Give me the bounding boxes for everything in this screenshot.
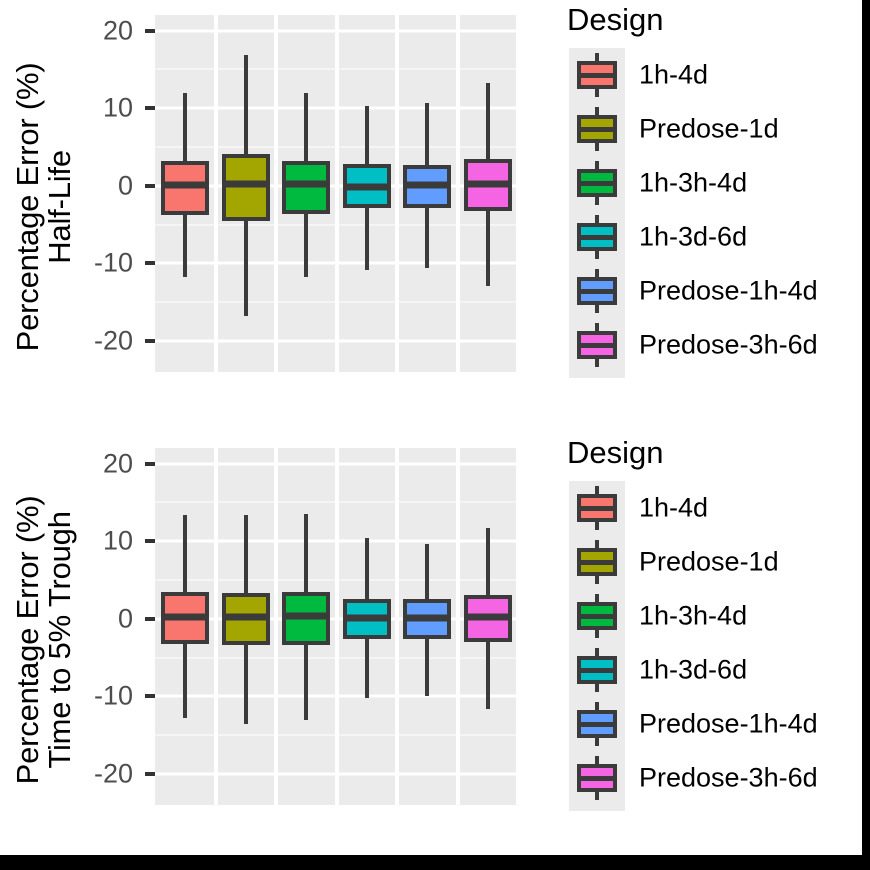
boxplot-Predose-1h-4d	[403, 15, 451, 372]
y-tick-mark	[145, 462, 155, 466]
gridline-major-vertical	[274, 448, 278, 805]
y-tick-mark	[145, 539, 155, 543]
legend-key-Predose-1h-4d[interactable]	[574, 701, 620, 747]
legend-label-Predose-3h-6d: Predose-3h-6d	[639, 763, 818, 794]
median-line	[464, 614, 512, 621]
boxplot-1h-3h-4d	[282, 15, 330, 372]
legend-key-1h-3h-4d[interactable]	[574, 593, 620, 639]
median-line	[161, 614, 209, 621]
gridline-major-vertical	[335, 448, 339, 805]
y-axis-ticklabels-top: 20100-10-20	[0, 0, 155, 400]
y-tick-mark	[145, 261, 155, 265]
y-axis-ticklabels-bottom: 20100-10-20	[0, 433, 155, 833]
median-line	[343, 184, 391, 191]
legend-label-1h-4d: 1h-4d	[639, 60, 708, 91]
legend-key-1h-4d[interactable]	[574, 485, 620, 531]
y-tick-label: -10	[94, 681, 133, 712]
legend-label-Predose-3h-6d: Predose-3h-6d	[639, 330, 818, 361]
boxplot-Predose-3h-6d	[464, 15, 512, 372]
legend-key-Predose-3h-6d[interactable]	[574, 322, 620, 368]
legend-label-1h-3h-4d: 1h-3h-4d	[639, 168, 747, 199]
y-tick-mark	[145, 106, 155, 110]
y-tick-label: 20	[103, 15, 133, 46]
y-tick-label: 0	[118, 603, 133, 634]
legend-key-median	[577, 614, 617, 619]
gridline-major-vertical	[516, 448, 518, 805]
legend-top: Design 1h-4dPredose-1d1h-3h-4d1h-3d-6dPr…	[562, 0, 862, 400]
legend-key-median	[577, 776, 617, 781]
median-line	[343, 614, 391, 621]
median-line	[403, 181, 451, 188]
gridline-major-vertical	[395, 15, 399, 372]
y-tick-mark	[145, 29, 155, 33]
plot-panel-top	[155, 15, 518, 372]
figure-border-bottom	[0, 855, 870, 870]
legend-key-median	[577, 73, 617, 78]
boxplot-1h-4d	[161, 15, 209, 372]
figure-border-right	[862, 0, 870, 870]
legend-key-Predose-3h-6d[interactable]	[574, 755, 620, 801]
median-line	[161, 181, 209, 188]
y-tick-label: -20	[94, 758, 133, 789]
legend-label-1h-3d-6d: 1h-3d-6d	[639, 222, 747, 253]
gridline-major-vertical	[456, 15, 460, 372]
gridline-major-vertical	[274, 15, 278, 372]
y-tick-mark	[145, 339, 155, 343]
y-tick-mark	[145, 772, 155, 776]
y-tick-mark	[145, 694, 155, 698]
y-tick-label: 0	[118, 170, 133, 201]
y-tick-label: 20	[103, 448, 133, 479]
boxplot-1h-3h-4d	[282, 448, 330, 805]
legend-keys-container	[569, 48, 625, 378]
legend-key-1h-3h-4d[interactable]	[574, 160, 620, 206]
legend-label-1h-4d: 1h-4d	[639, 493, 708, 524]
legend-key-median	[577, 722, 617, 727]
gridline-major-vertical	[335, 15, 339, 372]
figure-root: Percentage Error (%) Half-Life 20100-10-…	[0, 0, 870, 870]
legend-key-median	[577, 181, 617, 186]
median-line	[464, 181, 512, 188]
legend-key-median	[577, 235, 617, 240]
boxplot-Predose-1h-4d	[403, 448, 451, 805]
legend-key-median	[577, 127, 617, 132]
legend-label-Predose-1h-4d: Predose-1h-4d	[639, 276, 818, 307]
gridline-major-vertical	[214, 448, 218, 805]
gridline-major-vertical	[516, 15, 518, 372]
gridline-major-vertical	[395, 448, 399, 805]
legend-key-median	[577, 289, 617, 294]
legend-bottom: Design 1h-4dPredose-1d1h-3h-4d1h-3d-6dPr…	[562, 433, 862, 833]
legend-keys-container	[569, 481, 625, 811]
legend-label-Predose-1d: Predose-1d	[639, 114, 779, 145]
y-tick-label: 10	[103, 93, 133, 124]
boxplot-Predose-3h-6d	[464, 448, 512, 805]
y-tick-label: -20	[94, 325, 133, 356]
median-line	[282, 613, 330, 620]
gridline-major-vertical	[456, 448, 460, 805]
legend-key-median	[577, 560, 617, 565]
legend-key-median	[577, 668, 617, 673]
boxplot-Predose-1d	[222, 448, 270, 805]
plot-panel-bottom	[155, 448, 518, 805]
legend-title: Design	[567, 435, 664, 471]
boxplot-1h-4d	[161, 448, 209, 805]
median-line	[222, 181, 270, 188]
legend-label-Predose-1d: Predose-1d	[639, 547, 779, 578]
y-tick-label: 10	[103, 526, 133, 557]
legend-key-1h-3d-6d[interactable]	[574, 647, 620, 693]
legend-title: Design	[567, 2, 664, 38]
y-tick-mark	[145, 184, 155, 188]
median-line	[403, 614, 451, 621]
legend-key-Predose-1h-4d[interactable]	[574, 268, 620, 314]
boxplot-Predose-1d	[222, 15, 270, 372]
legend-key-median	[577, 343, 617, 348]
y-tick-mark	[145, 617, 155, 621]
y-tick-label: -10	[94, 248, 133, 279]
legend-key-median	[577, 506, 617, 511]
gridline-major-vertical	[214, 15, 218, 372]
legend-key-1h-3d-6d[interactable]	[574, 214, 620, 260]
legend-key-Predose-1d[interactable]	[574, 539, 620, 585]
legend-label-1h-3d-6d: 1h-3d-6d	[639, 655, 747, 686]
legend-label-Predose-1h-4d: Predose-1h-4d	[639, 709, 818, 740]
legend-key-Predose-1d[interactable]	[574, 106, 620, 152]
median-line	[282, 181, 330, 188]
boxplot-1h-3d-6d	[343, 448, 391, 805]
legend-key-1h-4d[interactable]	[574, 52, 620, 98]
median-line	[222, 614, 270, 621]
legend-label-1h-3h-4d: 1h-3h-4d	[639, 601, 747, 632]
boxplot-1h-3d-6d	[343, 15, 391, 372]
